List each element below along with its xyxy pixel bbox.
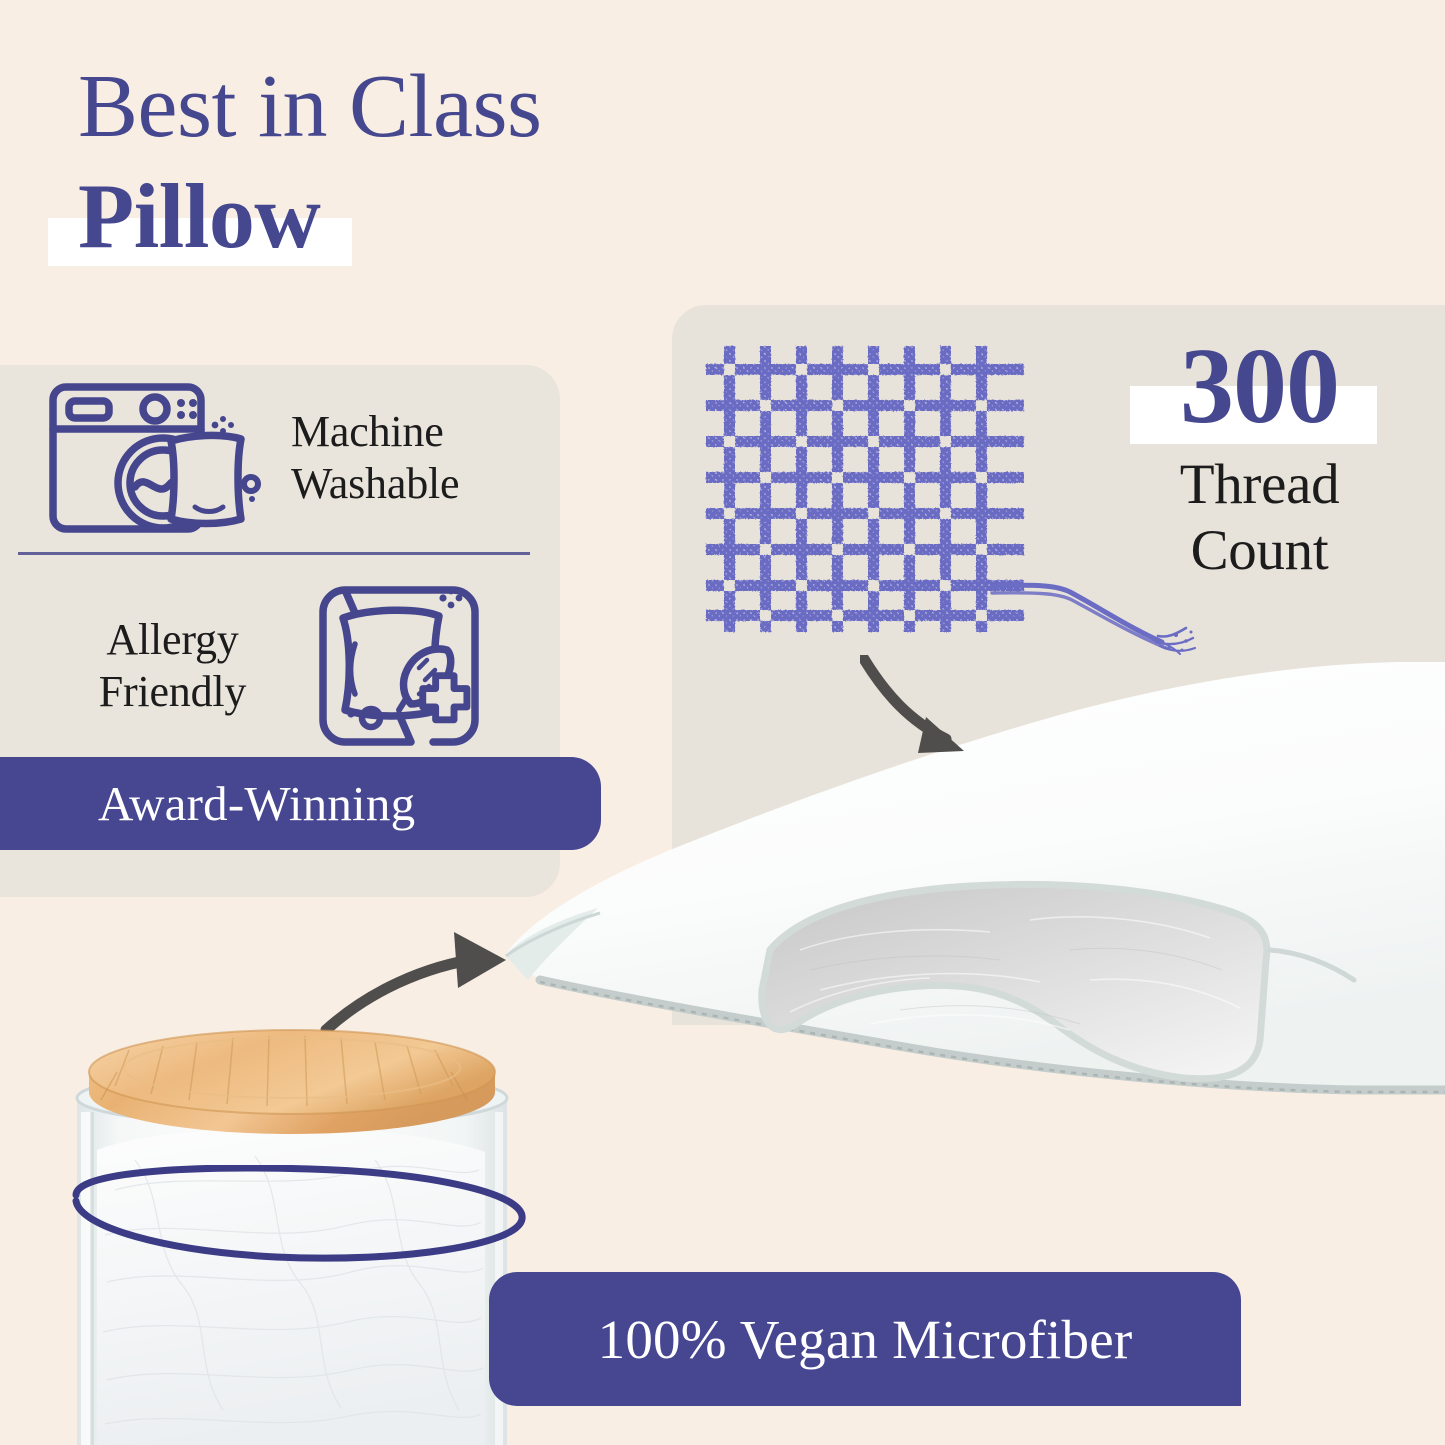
feature-allergy-friendly-label: Allergy Friendly — [60, 614, 285, 718]
page-title-line1: Best in Class — [78, 62, 838, 152]
feature-label-line1: Allergy — [106, 615, 238, 664]
arrow-weave-to-pillow-icon — [860, 655, 1020, 785]
feature-machine-washable: Machine Washable — [45, 378, 545, 538]
allergy-friendly-icon — [315, 582, 483, 750]
jar-highlight-ring — [60, 1165, 540, 1285]
feature-allergy-friendly: Allergy Friendly — [60, 578, 485, 753]
page-title: Best in Class Pillow — [78, 62, 838, 262]
page-title-line2-wrap: Pillow — [78, 170, 320, 262]
award-winning-label: Award-Winning — [98, 775, 415, 832]
feature-divider — [18, 552, 530, 555]
feature-machine-washable-label: Machine Washable — [291, 406, 459, 510]
thread-count-label-line2: Count — [1191, 519, 1329, 582]
feature-label-line1: Machine — [291, 407, 444, 456]
page-title-line2: Pillow — [78, 165, 320, 267]
award-winning-banner: Award-Winning — [0, 757, 601, 850]
fabric-weave-swatch — [700, 338, 1030, 638]
thread-count-block: 300 Thread Count — [1152, 336, 1367, 583]
infographic-canvas: Machine Washable Allergy Friendly — [0, 0, 1445, 1445]
feature-label-line2: Washable — [291, 459, 459, 508]
vegan-microfiber-label: 100% Vegan Microfiber — [598, 1308, 1133, 1371]
thread-count-number-wrap: 300 — [1152, 336, 1367, 438]
thread-count-number: 300 — [1152, 336, 1367, 438]
thread-count-label-line1: Thread — [1180, 453, 1340, 516]
washing-machine-icon — [45, 379, 265, 537]
vegan-microfiber-banner: 100% Vegan Microfiber — [489, 1272, 1241, 1406]
feature-label-line2: Friendly — [99, 667, 247, 716]
thread-count-label: Thread Count — [1152, 452, 1367, 583]
